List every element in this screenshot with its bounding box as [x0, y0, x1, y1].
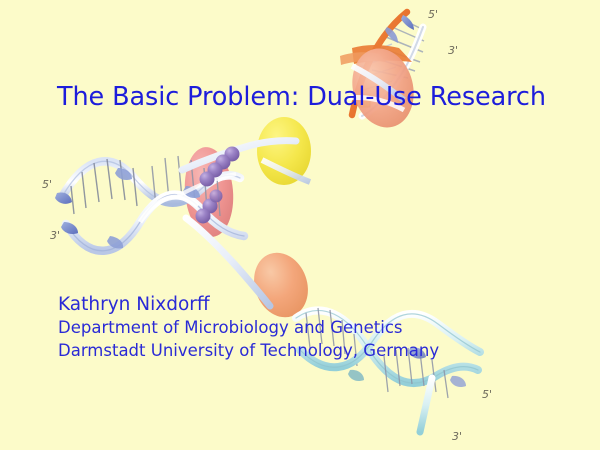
presentation-slide: 5' 3' [0, 0, 600, 450]
author-name: Kathryn Nixdorff [58, 293, 528, 317]
author-affiliation-department: Department of Microbiology and Genetics [58, 317, 528, 340]
page-title: The Basic Problem: Dual-Use Research [57, 82, 587, 112]
slide-text-layer: The Basic Problem: Dual-Use Research Kat… [0, 0, 600, 450]
author-block: Kathryn Nixdorff Department of Microbiol… [58, 293, 528, 362]
author-affiliation-university: Darmstadt University of Technology, Germ… [58, 340, 528, 363]
